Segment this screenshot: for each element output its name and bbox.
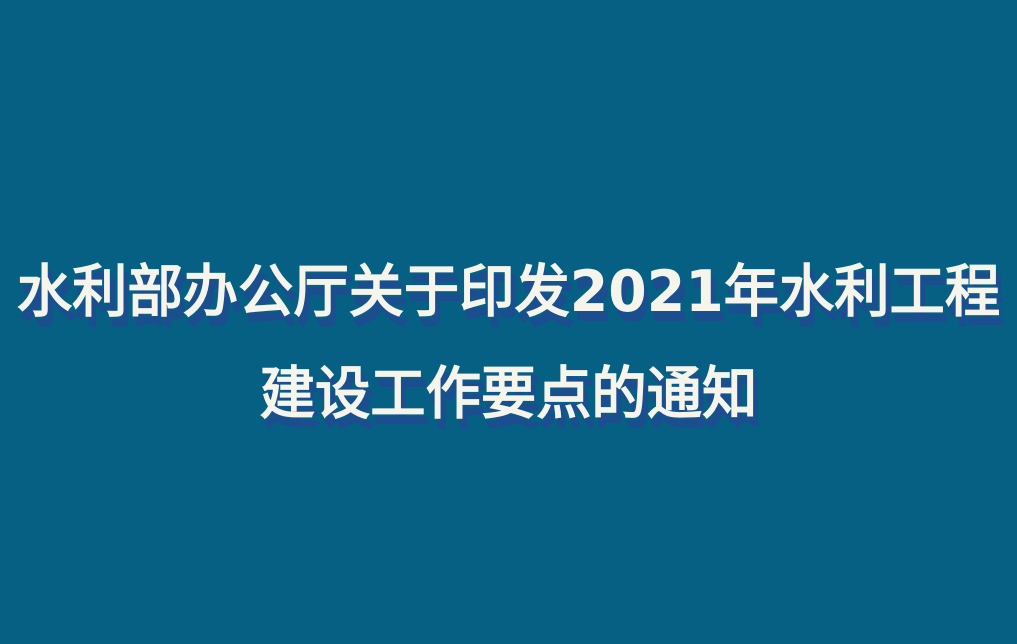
title-line-1: 水利部办公厅关于印发2021年水利工程: [15, 261, 1001, 323]
title-card: 水利部办公厅关于印发2021年水利工程 建设工作要点的通知: [0, 0, 1017, 644]
title-line-2: 建设工作要点的通知: [15, 363, 1001, 425]
title-block: 水利部办公厅关于印发2021年水利工程 建设工作要点的通知: [0, 261, 1017, 425]
